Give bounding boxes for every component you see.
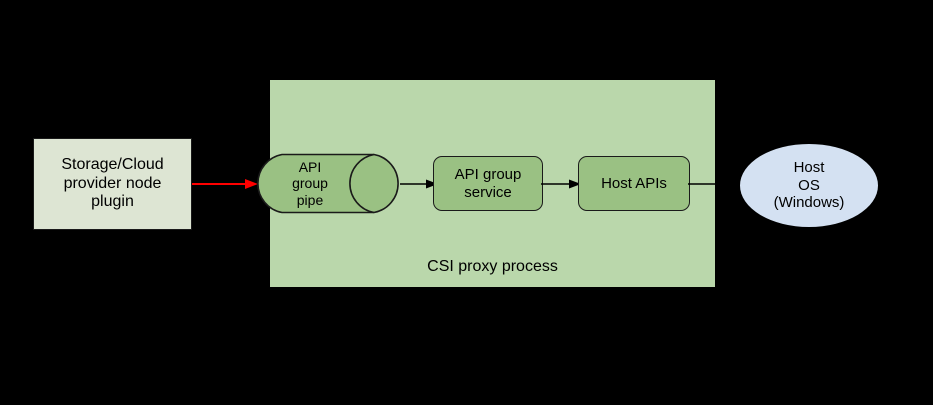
service-to-host-apis-arrow-icon [541,173,583,195]
api-group-pipe-shape[interactable] [251,153,405,214]
host-apis-to-host-os-connector [688,178,718,190]
host-apis-box[interactable] [578,156,690,211]
host-os-ellipse[interactable] [740,144,878,227]
diagram-canvas: CSI proxy process Storage/Cloud provider… [0,0,933,405]
plugin-to-pipe-arrow-icon [190,172,260,196]
storage-cloud-provider-node-plugin-box[interactable] [33,138,192,230]
api-group-service-box[interactable] [433,156,543,211]
